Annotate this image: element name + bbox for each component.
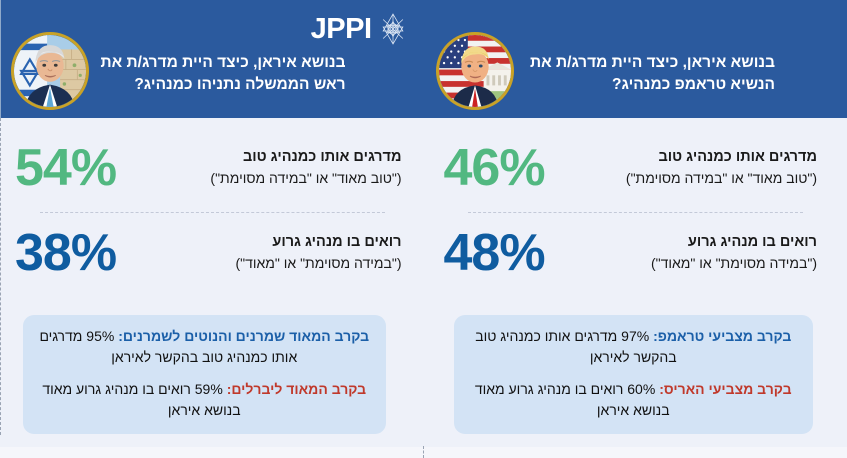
star-of-david-icon	[376, 12, 410, 46]
stat-label: רואים בו מנהיג גרוע ("במידה מסוימת" או "…	[140, 233, 402, 273]
stat-label: מדרגים אותו כמנהיג טוב ("טוב מאוד" או "ב…	[569, 148, 818, 188]
trump-portrait-icon	[436, 32, 514, 110]
column-netanyahu: מדרגים אותו כמנהיג טוב ("טוב מאוד" או "ב…	[0, 118, 424, 435]
stat-label: מדרגים אותו כמנהיג טוב ("טוב מאוד" או "ב…	[140, 148, 402, 188]
stat-title: רואים בו מנהיג גרוע	[150, 233, 402, 253]
callout-trump: בקרב מצביעי טראמפ: 97% מדרגים אותו כמנהי…	[454, 315, 814, 434]
stat-label: רואים בו מנהיג גרוע ("במידה מסוימת" או "…	[569, 233, 818, 273]
stat-trump-good: מדרגים אותו כמנהיג טוב ("טוב מאוד" או "ב…	[424, 124, 847, 212]
header-panel-trump: בנושא איראן, כיצד היית מדרג/ת את הנשיא ט…	[424, 0, 847, 118]
callout-text: 60% רואים בו מנהיג גרוע מאוד בנושא איראן	[475, 381, 670, 418]
stat-value: 48%	[444, 227, 569, 279]
stat-subtitle: ("טוב מאוד" או "במידה מסוימת")	[150, 169, 402, 188]
callout-highlight: בקרב מצביעי טראמפ:	[653, 328, 791, 344]
stat-title: רואים בו מנהיג גרוע	[579, 233, 818, 253]
callout-line: בקרב המאוד ליברלים: 59% רואים בו מנהיג ג…	[39, 379, 370, 421]
column-trump: מדרגים אותו כמנהיג טוב ("טוב מאוד" או "ב…	[424, 118, 847, 435]
callout-highlight: בקרב מצביעי האריס:	[659, 381, 791, 397]
infographic-root: בנושא איראן, כיצד היית מדרג/ת את הנשיא ט…	[0, 0, 847, 458]
header-panel-netanyahu: JPPI	[0, 0, 424, 118]
stat-value: 38%	[15, 227, 140, 279]
stat-subtitle: ("טוב מאוד" או "במידה מסוימת")	[579, 169, 818, 188]
trump-question: בנושא איראן, כיצד היית מדרג/ת את הנשיא ט…	[520, 52, 775, 97]
netanyahu-question: בנושא איראן, כיצד היית מדרג/ת את ראש הממ…	[96, 52, 346, 97]
header-row: בנושא איראן, כיצד היית מדרג/ת את הנשיא ט…	[0, 0, 847, 118]
callout-line: בקרב מצביעי האריס: 60% רואים בו מנהיג גר…	[470, 379, 798, 421]
stat-value: 54%	[15, 142, 140, 194]
center-divider	[423, 446, 424, 458]
stat-title: מדרגים אותו כמנהיג טוב	[579, 148, 818, 168]
stat-subtitle: ("במידה מסוימת" או "מאוד")	[150, 254, 402, 273]
callout-highlight: בקרב המאוד ליברלים:	[227, 381, 366, 397]
callout-line: בקרב המאוד שמרנים והנוטים לשמרנים: 95% מ…	[39, 326, 370, 368]
jppi-logo: JPPI	[311, 12, 410, 46]
callout-text: 59% רואים בו מנהיג גרוע מאוד בנושא איראן	[42, 381, 240, 418]
stat-subtitle: ("במידה מסוימת" או "מאוד")	[579, 254, 818, 273]
stat-title: מדרגים אותו כמנהיג טוב	[150, 148, 402, 168]
callout-line: בקרב מצביעי טראמפ: 97% מדרגים אותו כמנהי…	[470, 326, 798, 368]
stat-netanyahu-bad: רואים בו מנהיג גרוע ("במידה מסוימת" או "…	[1, 213, 424, 293]
jppi-logo-text: JPPI	[311, 15, 372, 44]
body-row: מדרגים אותו כמנהיג טוב ("טוב מאוד" או "ב…	[0, 118, 847, 435]
stat-netanyahu-good: מדרגים אותו כמנהיג טוב ("טוב מאוד" או "ב…	[1, 124, 424, 212]
callout-text: 97% מדרגים אותו כמנהיג טוב בהקשר לאיראן	[475, 328, 676, 365]
stat-trump-bad: רואים בו מנהיג גרוע ("במידה מסוימת" או "…	[424, 213, 847, 293]
stat-value: 46%	[444, 142, 569, 194]
callout-netanyahu: בקרב המאוד שמרנים והנוטים לשמרנים: 95% מ…	[23, 315, 386, 434]
netanyahu-portrait-icon	[11, 32, 89, 110]
callout-highlight: בקרב המאוד שמרנים והנוטים לשמרנים:	[118, 328, 369, 344]
